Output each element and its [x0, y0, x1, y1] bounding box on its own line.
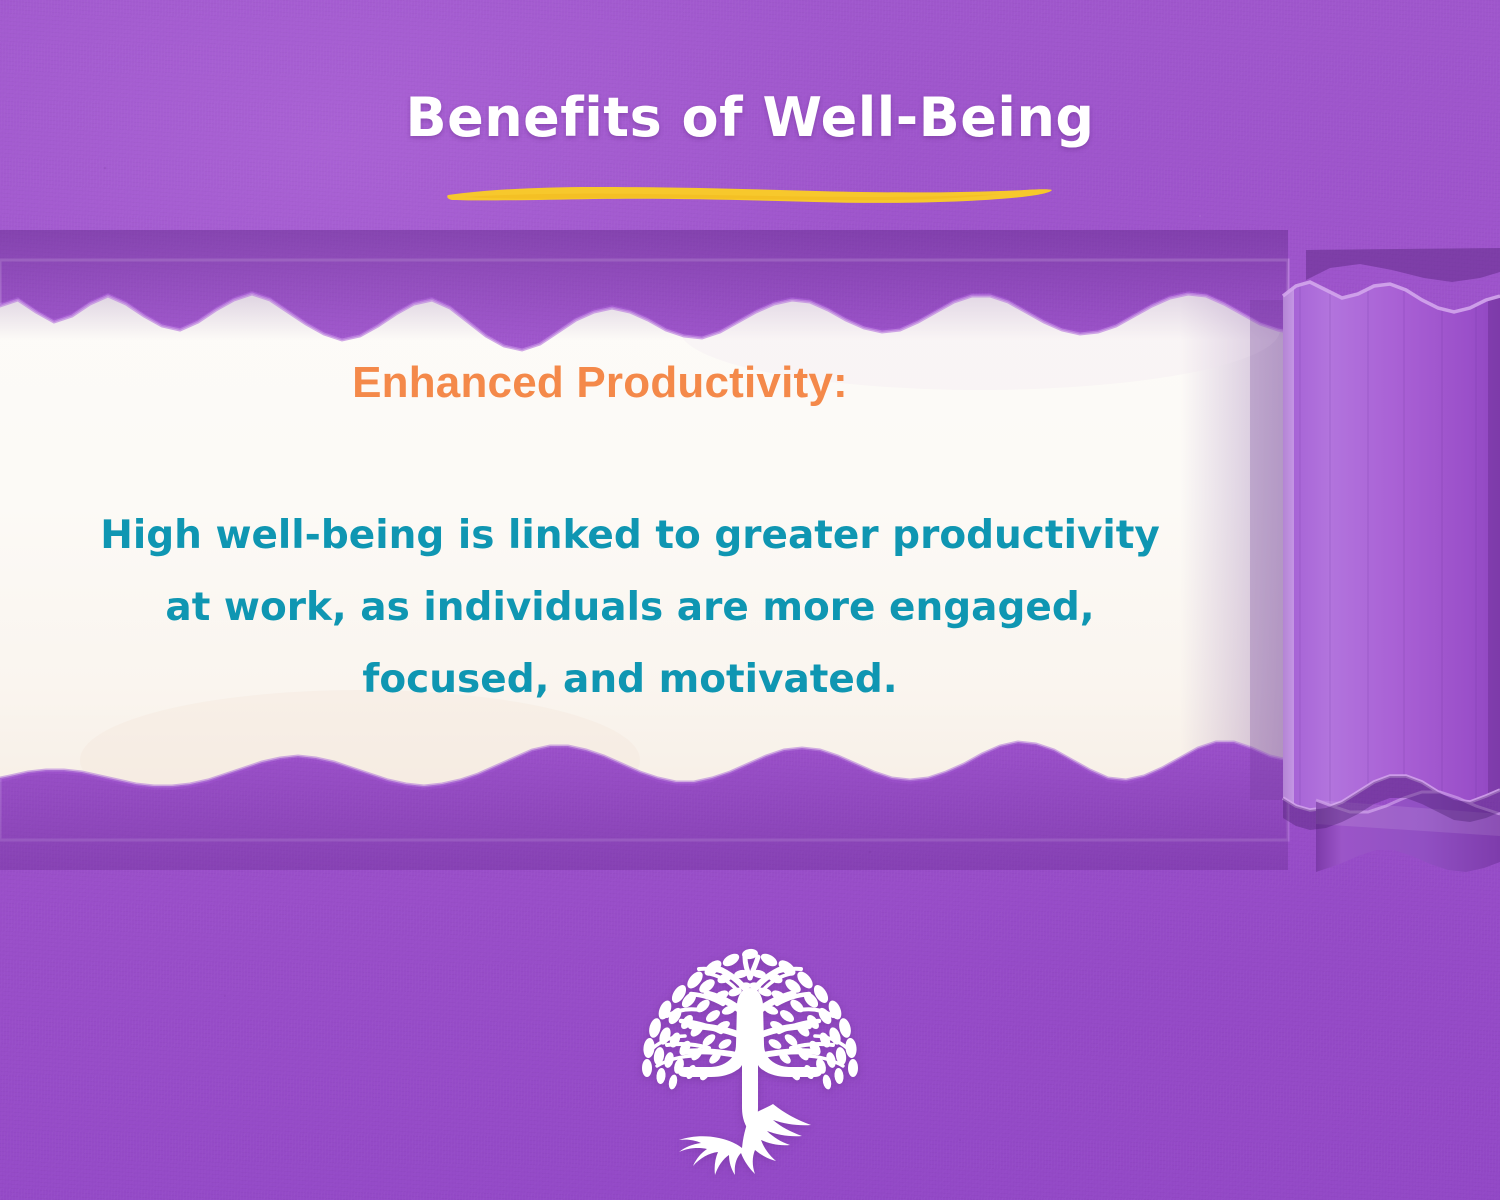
poster-canvas: Benefits of Well-Being Enhanced Producti… [0, 0, 1500, 1200]
page-title: Benefits of Well-Being [0, 86, 1500, 149]
tree-of-life-icon [625, 948, 875, 1180]
section-headline: Enhanced Productivity: [0, 358, 1200, 408]
curled-paper-flap [1250, 248, 1500, 872]
body-line-3: focused, and motivated. [60, 644, 1200, 716]
body-paragraph: High well-being is linked to greater pro… [60, 500, 1200, 716]
body-line-1: High well-being is linked to greater pro… [60, 500, 1200, 572]
body-line-2: at work, as individuals are more engaged… [60, 572, 1200, 644]
